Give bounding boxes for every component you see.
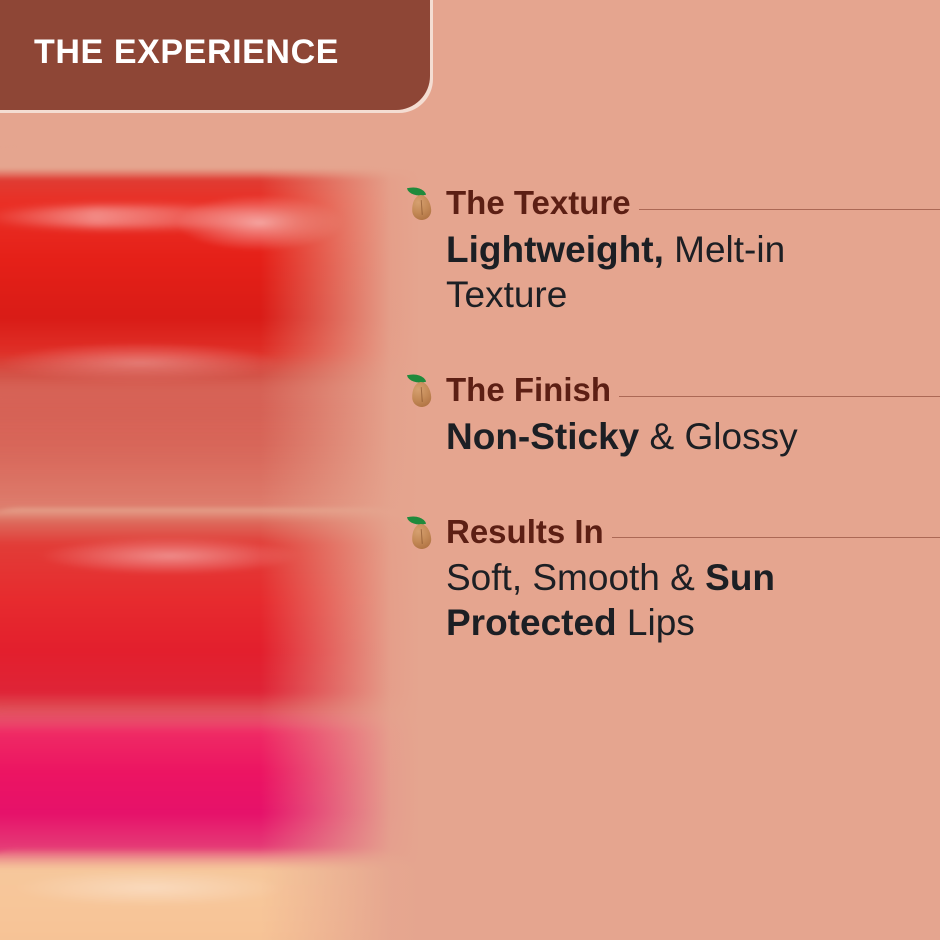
swatch-band-peach xyxy=(0,848,420,940)
feature-body: Soft, Smooth & Sun Protected Lips xyxy=(446,555,916,645)
feature-body-rest: & Glossy xyxy=(639,416,797,457)
nut-shape xyxy=(411,523,432,549)
swatch-band-red-secondary xyxy=(0,508,420,738)
almond-seed-icon xyxy=(408,515,434,549)
almond-seed-icon xyxy=(408,186,434,220)
feature-heading-row: The Texture xyxy=(408,186,940,221)
header-banner: THE EXPERIENCE xyxy=(0,0,430,110)
product-experience-poster: THE EXPERIENCE The Texture Lightweight, … xyxy=(0,0,940,940)
feature-item-results: Results In Soft, Smooth & Sun Protected … xyxy=(408,515,940,646)
nut-shape xyxy=(411,195,432,221)
feature-body: Non-Sticky & Glossy xyxy=(446,414,916,459)
feature-list: The Texture Lightweight, Melt-in Texture… xyxy=(408,186,940,702)
feature-divider-rule xyxy=(612,537,940,538)
almond-seed-icon xyxy=(408,373,434,407)
feature-body-rest: Lips xyxy=(617,602,695,643)
feature-body-lead: Soft, Smooth & xyxy=(446,557,705,598)
swatch-photo-canvas xyxy=(0,108,420,940)
swatch-gloss-highlight xyxy=(0,206,310,228)
feature-heading-row: The Finish xyxy=(408,373,940,408)
banner-title: THE EXPERIENCE xyxy=(34,35,339,69)
feature-body-bold: Non-Sticky xyxy=(446,416,639,457)
feature-divider-rule xyxy=(639,209,940,210)
feature-item-finish: The Finish Non-Sticky & Glossy xyxy=(408,373,940,459)
feature-title: Results In xyxy=(446,515,604,550)
feature-body: Lightweight, Melt-in Texture xyxy=(446,227,916,317)
feature-item-texture: The Texture Lightweight, Melt-in Texture xyxy=(408,186,940,317)
feature-heading-row: Results In xyxy=(408,515,940,550)
nut-shape xyxy=(411,382,432,408)
feature-divider-rule xyxy=(619,396,940,397)
feature-body-bold: Lightweight, xyxy=(446,229,664,270)
product-swatch-photo xyxy=(0,108,420,940)
feature-title: The Texture xyxy=(446,186,631,221)
feature-title: The Finish xyxy=(446,373,611,408)
